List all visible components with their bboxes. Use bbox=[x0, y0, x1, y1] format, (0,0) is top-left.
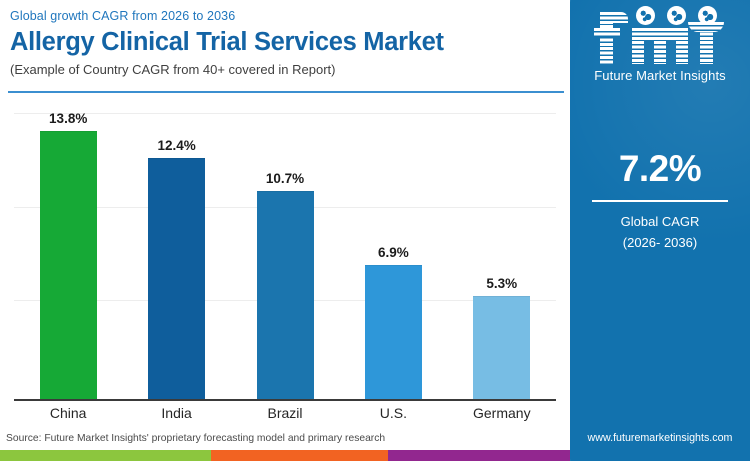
logo-letter-i-swoosh bbox=[688, 22, 724, 32]
logo-letter-m-arches bbox=[632, 28, 688, 40]
category-label-brazil: Brazil bbox=[231, 405, 339, 421]
cagr-label: Global CAGR bbox=[570, 211, 750, 232]
header-divider bbox=[8, 91, 564, 93]
page-subtitle: (Example of Country CAGR from 40+ covere… bbox=[10, 60, 560, 79]
bar-value-label: 12.4% bbox=[157, 138, 195, 153]
logo-letter-i bbox=[700, 28, 713, 64]
bar-value-label: 13.8% bbox=[49, 111, 87, 126]
source-note: Source: Future Market Insights' propriet… bbox=[6, 433, 385, 444]
cagr-value: 7.2% bbox=[570, 148, 750, 190]
bar-group-brazil[interactable]: 10.7% bbox=[257, 108, 314, 399]
bar-group-india[interactable]: 12.4% bbox=[148, 108, 205, 399]
bar[interactable] bbox=[473, 296, 530, 399]
bar-value-label: 5.3% bbox=[486, 276, 517, 291]
bar[interactable] bbox=[257, 191, 314, 399]
x-axis-line bbox=[14, 399, 556, 401]
bar-value-label: 10.7% bbox=[266, 171, 304, 186]
cagr-period: (2026- 2036) bbox=[570, 232, 750, 253]
infographic-root: Global growth CAGR from 2026 to 2036 All… bbox=[0, 0, 750, 461]
header: Global growth CAGR from 2026 to 2036 All… bbox=[0, 0, 570, 92]
logo-letter-f-bar bbox=[594, 28, 620, 37]
bottom-color-bar bbox=[0, 450, 570, 461]
fmi-logo[interactable]: Future Market Insights bbox=[570, 6, 750, 83]
green-segment bbox=[0, 450, 211, 461]
category-label-us: U.S. bbox=[339, 405, 447, 421]
category-label-india: India bbox=[122, 405, 230, 421]
logo-letter-f-hook bbox=[600, 12, 628, 23]
globe-icon bbox=[667, 6, 686, 25]
globe-icon bbox=[636, 6, 655, 25]
purple-segment bbox=[388, 450, 570, 461]
bar[interactable] bbox=[40, 131, 97, 399]
cagr-divider bbox=[592, 200, 728, 202]
orange-segment bbox=[211, 450, 388, 461]
bar-group-china[interactable]: 13.8% bbox=[40, 108, 97, 399]
eyebrow-text: Global growth CAGR from 2026 to 2036 bbox=[10, 8, 560, 25]
page-title: Allergy Clinical Trial Services Market bbox=[10, 26, 560, 58]
bar[interactable] bbox=[365, 265, 422, 399]
brand-panel: Future Market Insights 7.2% Global CAGR … bbox=[570, 0, 750, 461]
global-cagr-block: 7.2% Global CAGR (2026- 2036) bbox=[570, 148, 750, 253]
chart-plot-area: 13.8%12.4%10.7%6.9%5.3% bbox=[14, 108, 556, 399]
bar-group-germany[interactable]: 5.3% bbox=[473, 108, 530, 399]
logo-wordmark: Future Market Insights bbox=[570, 68, 750, 83]
bar-value-label: 6.9% bbox=[378, 245, 409, 260]
bar-group-us[interactable]: 6.9% bbox=[365, 108, 422, 399]
category-label-germany: Germany bbox=[448, 405, 556, 421]
bar[interactable] bbox=[148, 158, 205, 399]
website-url[interactable]: www.futuremarketinsights.com bbox=[570, 432, 750, 444]
content-pane: Global growth CAGR from 2026 to 2036 All… bbox=[0, 0, 570, 450]
fmi-logo-mark bbox=[592, 6, 728, 64]
category-label-china: China bbox=[14, 405, 122, 421]
